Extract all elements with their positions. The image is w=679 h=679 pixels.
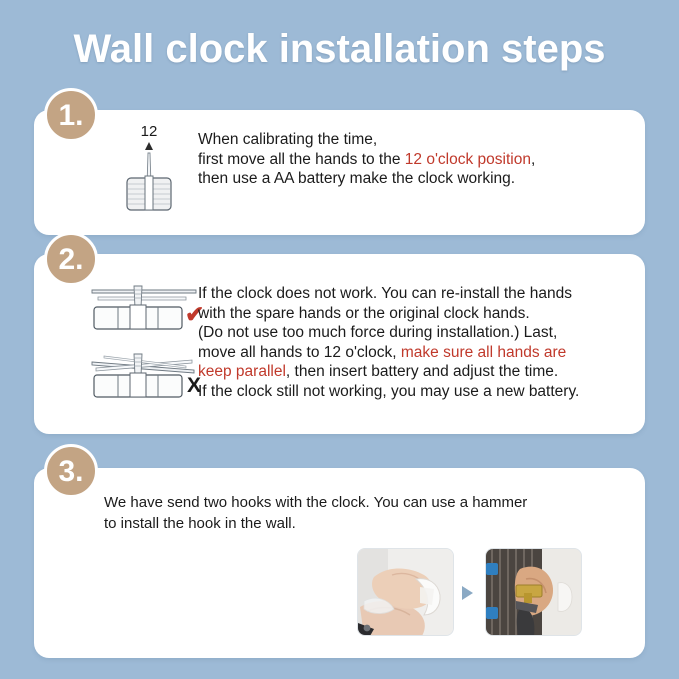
step-2-line-3: (Do not use too much force during instal… [198,323,579,343]
step-3-line-2: to install the hook in the wall. [104,513,527,534]
up-arrow-icon [145,142,153,150]
photo-hammering-hook [485,548,582,636]
step-1-line-2: first move all the hands to the 12 o'clo… [198,150,535,170]
page-title: Wall clock installation steps [0,27,679,72]
step-3-line-1: We have send two hooks with the clock. Y… [104,492,527,513]
step-1-line-1: When calibrating the time, [198,130,535,150]
step-2-text: If the clock does not work. You can re-i… [198,284,579,401]
step-3-badge: 3. [44,444,98,498]
step-2-badge: 2. [44,232,98,286]
step-2-line-5: keep parallel, then insert battery and a… [198,362,579,382]
step-2-line-1: If the clock does not work. You can re-i… [198,284,579,304]
photo-hands-holding-hook [357,548,454,636]
step-2-line-4: move all hands to 12 o'clock, make sure … [198,343,579,363]
clock-movement-figure: 12 [109,120,189,220]
twelve-oclock-label: 12 [141,123,158,140]
step-1-line-3: then use a AA battery make the clock wor… [198,169,535,189]
step-2-line-6: If the clock still not working, you may … [198,382,579,402]
step-2-line-2: with the spare hands or the original clo… [198,304,579,324]
step-3-text: We have send two hooks with the clock. Y… [104,492,527,534]
step-1-text: When calibrating the time, first move al… [198,130,535,189]
arrow-right-icon [462,586,473,600]
step-1-badge: 1. [44,88,98,142]
clock-hands-crossed-figure [74,346,204,407]
